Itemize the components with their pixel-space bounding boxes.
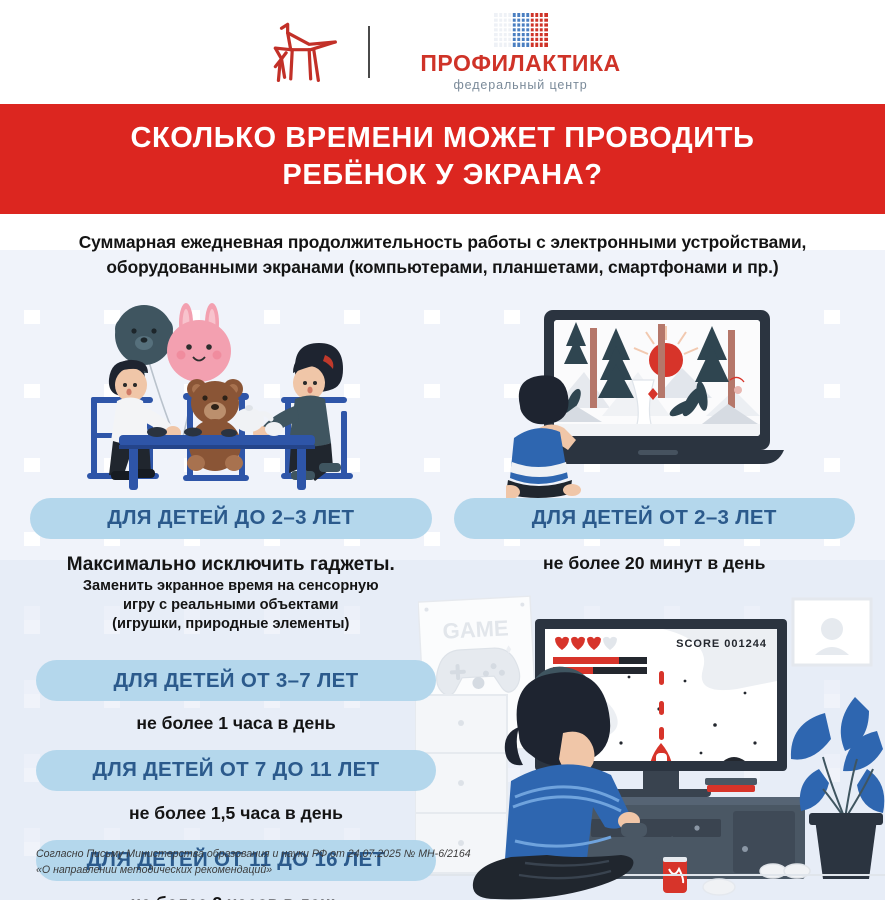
age-note-0: Максимально исключить гаджеты. Заменить …: [30, 552, 432, 635]
logo-divider: [368, 26, 370, 78]
age-note-4: не более 2 часов в день: [36, 892, 436, 900]
flag-grid-icon: [494, 13, 548, 47]
subtitle-line1: Суммарная ежедневная продолжительность р…: [22, 230, 863, 255]
title-banner: СКОЛЬКО ВРЕМЕНИ МОЖЕТ ПРОВОДИТЬ РЕБЁНОК …: [0, 104, 885, 214]
teddy-bear-icon: [187, 379, 243, 471]
age-label-3[interactable]: ДЛЯ ДЕТЕЙ ОТ 7 ДО 11 ЛЕТ: [36, 750, 436, 791]
infographic-poster: ПРОФИЛАКТИКА федеральный центр СКОЛЬКО В…: [0, 0, 885, 900]
logo-lockup: ПРОФИЛАКТИКА федеральный центр: [264, 13, 620, 92]
age-group-1: ДЛЯ ДЕТЕЙ ОТ 2–3 ЛЕТ не более 20 минут в…: [454, 498, 856, 635]
illustration-row: [0, 290, 885, 498]
poster-header: ПРОФИЛАКТИКА федеральный центр: [0, 0, 885, 104]
page-title-line1: СКОЛЬКО ВРЕМЕНИ МОЖЕТ ПРОВОДИТЬ: [10, 120, 875, 157]
footer-line2: «О направлении методических рекомендаций…: [36, 863, 471, 878]
child-watching-laptop-illustration: [506, 298, 806, 498]
age-note-0-strong: Максимально исключить гаджеты.: [30, 552, 432, 578]
children-tea-party-illustration: [69, 293, 369, 498]
age-note-0-line1: Заменить экранное время на сенсорную: [30, 577, 432, 596]
bullets: [659, 671, 664, 740]
page-title-line2: РЕБЁНОК У ЭКРАНА?: [10, 157, 875, 194]
age-note-3: не более 1,5 часа в день: [36, 802, 436, 826]
bunny-balloon-icon: [167, 303, 231, 389]
brand-subtitle: федеральный центр: [453, 79, 587, 92]
brand-name: ПРОФИЛАКТИКА: [420, 52, 620, 75]
age-group-2: ДЛЯ ДЕТЕЙ ОТ 3–7 ЛЕТ не более 1 часа в д…: [36, 660, 436, 736]
age-label-0[interactable]: ДЛЯ ДЕТЕЙ ДО 2–3 ЛЕТ: [30, 498, 432, 539]
footer-line1: Согласно Письму Министерства образования…: [36, 847, 471, 862]
age-note-2: не более 1 часа в день: [36, 712, 436, 736]
age-group-band-top: ДЛЯ ДЕТЕЙ ДО 2–3 ЛЕТ Максимально исключи…: [0, 498, 885, 635]
age-group-0: ДЛЯ ДЕТЕЙ ДО 2–3 ЛЕТ Максимально исключи…: [30, 498, 432, 635]
subtitle-line2: оборудованными экранами (компьютерами, п…: [22, 255, 863, 280]
age-note-1: не более 20 минут в день: [454, 552, 856, 576]
game-score-label: SCORE 001244: [676, 638, 767, 650]
subtitle-block: Суммарная ежедневная продолжительность р…: [0, 214, 885, 289]
age-group-3: ДЛЯ ДЕТЕЙ ОТ 7 ДО 11 ЛЕТ не более 1,5 ча…: [36, 750, 436, 826]
footer-source-note: Согласно Письму Министерства образования…: [36, 847, 471, 878]
brand-block: ПРОФИЛАКТИКА федеральный центр: [420, 13, 620, 92]
deer-petroglyph-logo-icon: [264, 19, 342, 85]
age-label-1[interactable]: ДЛЯ ДЕТЕЙ ОТ 2–3 ЛЕТ: [454, 498, 856, 539]
age-note-0-line2: игру с реальными объектами: [30, 596, 432, 615]
boy-figure: [109, 360, 181, 480]
age-label-2[interactable]: ДЛЯ ДЕТЕЙ ОТ 3–7 ЛЕТ: [36, 660, 436, 701]
age-note-0-line3: (игрушки, природные элементы): [30, 615, 432, 634]
